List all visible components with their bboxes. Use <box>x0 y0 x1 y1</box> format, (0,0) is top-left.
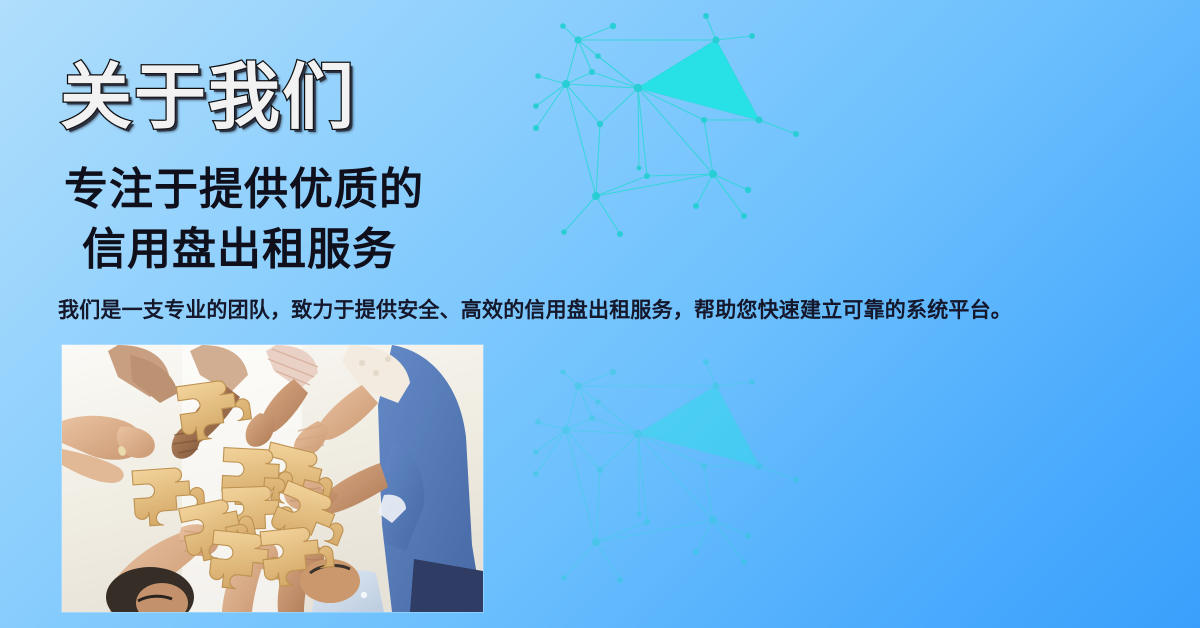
intro-paragraph: 我们是一支专业的团队，致力于提供安全、高效的信用盘出租服务，帮助您快速建立可靠的… <box>58 297 1012 324</box>
about-us-banner: 关于我们 专注于提供优质的 信用盘出租服务 我们是一支专业的团队，致力于提供安全… <box>0 0 1200 628</box>
page-title: 关于我们 <box>60 62 356 134</box>
team-photo <box>62 345 483 612</box>
network-constellation-top <box>520 8 810 256</box>
network-constellation-bottom <box>520 348 810 608</box>
subtitle-line-1: 专注于提供优质的 <box>64 168 424 212</box>
subtitle-line-2: 信用盘出租服务 <box>82 228 397 272</box>
